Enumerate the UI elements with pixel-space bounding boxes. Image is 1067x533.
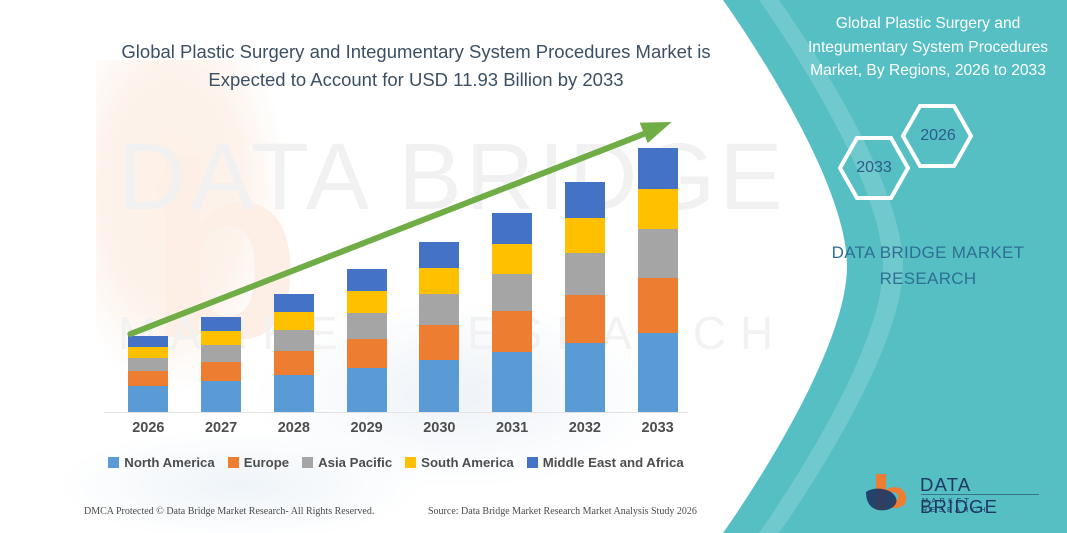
legend-item-europe[interactable]: Europe xyxy=(228,455,289,470)
panel-title: Global Plastic Surgery and Integumentary… xyxy=(802,12,1054,83)
legend-item-south-america[interactable]: South America xyxy=(405,455,514,470)
x-axis-label-2027: 2027 xyxy=(191,420,251,436)
bar-column-2033 xyxy=(638,148,678,412)
bar-segment-europe-2028 xyxy=(274,351,314,375)
bar-segment-south-america-2028 xyxy=(274,312,314,330)
legend-item-asia-pacific[interactable]: Asia Pacific xyxy=(302,455,392,470)
x-axis-label-2028: 2028 xyxy=(264,420,324,436)
legend-swatch-icon xyxy=(527,457,538,468)
x-axis-label-2026: 2026 xyxy=(118,420,178,436)
bar-segment-north-america-2027 xyxy=(201,381,241,412)
bar-segment-europe-2027 xyxy=(201,362,241,381)
bar-segment-north-america-2031 xyxy=(492,352,532,412)
bar-segment-europe-2033 xyxy=(638,278,678,333)
bar-segment-middle-east-and-africa-2029 xyxy=(347,269,387,291)
x-axis-label-2031: 2031 xyxy=(482,420,542,436)
x-axis-labels: 20262027202820292030203120322033 xyxy=(96,420,696,442)
bar-column-2026 xyxy=(128,336,168,412)
bar-segment-middle-east-and-africa-2031 xyxy=(492,213,532,244)
bar-segment-north-america-2030 xyxy=(419,360,459,412)
bar-segment-asia-pacific-2033 xyxy=(638,229,678,278)
bar-segment-asia-pacific-2032 xyxy=(565,253,605,295)
logo-subtitle: MARKET RESEARCH xyxy=(922,496,1042,514)
bar-column-2030 xyxy=(419,242,459,412)
bar-segment-south-america-2029 xyxy=(347,291,387,313)
legend-label: Asia Pacific xyxy=(318,455,392,470)
legend-swatch-icon xyxy=(405,457,416,468)
legend-swatch-icon xyxy=(108,457,119,468)
bar-segment-asia-pacific-2030 xyxy=(419,294,459,325)
legend-item-middle-east-and-africa[interactable]: Middle East and Africa xyxy=(527,455,684,470)
bar-segment-south-america-2033 xyxy=(638,189,678,229)
x-axis-label-2029: 2029 xyxy=(337,420,397,436)
x-axis-line xyxy=(104,412,688,413)
bar-segment-asia-pacific-2028 xyxy=(274,330,314,351)
bar-segment-south-america-2030 xyxy=(419,268,459,294)
bar-segment-middle-east-and-africa-2027 xyxy=(201,317,241,331)
panel-brand-text: DATA BRIDGE MARKET RESEARCH xyxy=(802,240,1054,293)
chart-title: Global Plastic Surgery and Integumentary… xyxy=(96,38,736,94)
legend-label: Europe xyxy=(244,455,289,470)
hexagon-2033-label: 2033 xyxy=(851,159,897,177)
legend-swatch-icon xyxy=(228,457,239,468)
chart-plot-area xyxy=(96,110,696,413)
bar-column-2029 xyxy=(347,269,387,412)
legend-label: South America xyxy=(421,455,514,470)
footer-source: Source: Data Bridge Market Research Mark… xyxy=(428,506,697,517)
bar-segment-south-america-2032 xyxy=(565,218,605,253)
hexagon-2026-label: 2026 xyxy=(915,127,961,145)
right-panel: Global Plastic Surgery and Integumentary… xyxy=(707,0,1067,533)
bar-segment-north-america-2029 xyxy=(347,368,387,412)
bar-segment-asia-pacific-2027 xyxy=(201,345,241,362)
x-axis-label-2032: 2032 xyxy=(555,420,615,436)
bar-segment-north-america-2033 xyxy=(638,333,678,412)
bar-segment-europe-2026 xyxy=(128,371,168,386)
chart-legend: North AmericaEuropeAsia PacificSouth Ame… xyxy=(96,455,696,470)
bar-column-2028 xyxy=(274,294,314,412)
bar-segment-south-america-2026 xyxy=(128,347,168,358)
bar-segment-north-america-2026 xyxy=(128,386,168,412)
bar-segment-europe-2030 xyxy=(419,325,459,360)
bar-segment-europe-2032 xyxy=(565,295,605,343)
infographic-root: b DATA BRIDGE MARKET RESEARCH Global Pla… xyxy=(0,0,1067,533)
bar-column-2027 xyxy=(201,317,241,412)
legend-label: North America xyxy=(124,455,214,470)
bar-segment-middle-east-and-africa-2028 xyxy=(274,294,314,312)
bar-segment-south-america-2027 xyxy=(201,331,241,345)
footer-copyright: DMCA Protected © Data Bridge Market Rese… xyxy=(84,506,374,517)
bar-segment-middle-east-and-africa-2032 xyxy=(565,182,605,218)
bar-segment-middle-east-and-africa-2026 xyxy=(128,336,168,347)
bar-segment-asia-pacific-2029 xyxy=(347,313,387,339)
bar-segment-middle-east-and-africa-2030 xyxy=(419,242,459,268)
bar-segment-europe-2029 xyxy=(347,339,387,368)
bar-column-2031 xyxy=(492,213,532,412)
panel-brand-line1: DATA BRIDGE MARKET xyxy=(832,243,1025,262)
bar-segment-asia-pacific-2026 xyxy=(128,358,168,371)
bar-segment-north-america-2032 xyxy=(565,343,605,412)
logo-mark-icon xyxy=(862,470,918,516)
bar-segment-asia-pacific-2031 xyxy=(492,274,532,311)
logo-divider xyxy=(921,494,1039,495)
legend-label: Middle East and Africa xyxy=(543,455,684,470)
legend-swatch-icon xyxy=(302,457,313,468)
bar-segment-north-america-2028 xyxy=(274,375,314,412)
hexagon-shapes xyxy=(802,96,1054,212)
panel-brand-line2: RESEARCH xyxy=(880,269,977,288)
data-bridge-logo: DATA BRIDGE MARKET RESEARCH xyxy=(862,470,1042,516)
bar-column-2032 xyxy=(565,182,605,412)
hexagon-group: 2026 2033 xyxy=(802,96,1054,212)
bar-segment-middle-east-and-africa-2033 xyxy=(638,148,678,189)
bar-segment-europe-2031 xyxy=(492,311,532,352)
x-axis-label-2030: 2030 xyxy=(409,420,469,436)
x-axis-label-2033: 2033 xyxy=(628,420,688,436)
footer: DMCA Protected © Data Bridge Market Rese… xyxy=(0,506,790,528)
bar-segment-south-america-2031 xyxy=(492,244,532,274)
legend-item-north-america[interactable]: North America xyxy=(108,455,214,470)
